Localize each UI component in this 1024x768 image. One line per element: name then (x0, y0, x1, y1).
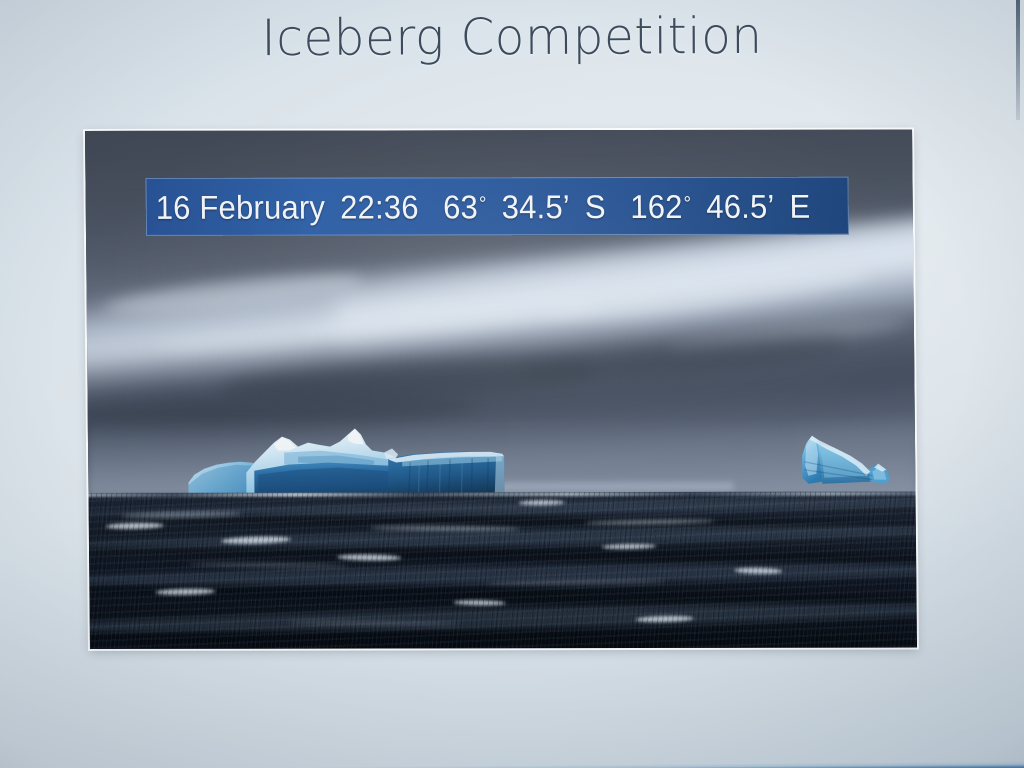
wave-crest (453, 600, 505, 606)
caption-text: 16 February 22:36 63 ° 34.5’ S 162 ° 46.… (156, 189, 811, 223)
ocean-region (88, 492, 917, 649)
iceberg-main-shape (188, 426, 529, 501)
degree-symbol-icon: ° (479, 194, 487, 214)
slide-photo: 16 February 22:36 63 ° 34.5’ S 162 ° 46.… (85, 130, 917, 649)
wave-crest (105, 522, 163, 529)
wave-band (88, 629, 917, 649)
page-title: Iceberg Competition (15, 6, 1009, 68)
photo-canvas: 16 February 22:36 63 ° 34.5’ S 162 ° 46.… (85, 130, 917, 649)
screen-right-edge (1016, 0, 1020, 120)
caption-longitude-minutes: 46.5’ (706, 189, 775, 222)
iceberg-secondary (788, 430, 899, 496)
foam-streak (370, 526, 520, 531)
caption-time: 22:36 (340, 190, 419, 223)
foam-streak (188, 561, 348, 569)
caption-longitude-hemisphere: E (789, 189, 810, 222)
caption-longitude-degrees: 162 (630, 189, 683, 222)
photo-caption-bar: 16 February 22:36 63 ° 34.5’ S 162 ° 46.… (145, 177, 849, 236)
iceberg-secondary-shape (788, 430, 899, 496)
caption-date: 16 February (156, 190, 326, 223)
degree-symbol-icon: ° (683, 193, 691, 213)
wave-crest (602, 544, 656, 550)
caption-latitude-degrees: 63 (443, 190, 478, 223)
wave-crest (337, 554, 401, 561)
horizon-foam-line (88, 492, 917, 497)
presentation-slide-screenshot: Iceberg Competition (0, 0, 1024, 768)
caption-latitude-minutes: 34.5’ (502, 190, 571, 223)
iceberg-main (188, 426, 529, 501)
caption-latitude-hemisphere: S (585, 190, 606, 223)
